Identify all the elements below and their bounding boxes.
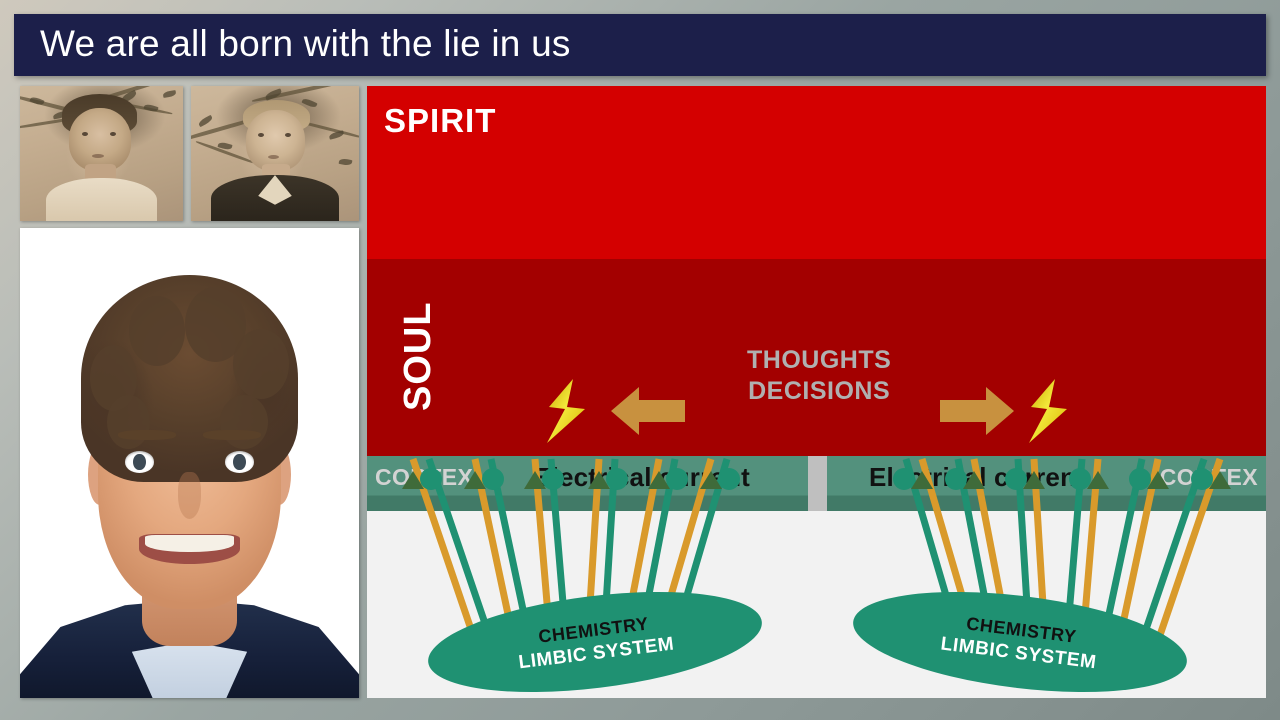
slide-title-bar: We are all born with the lie in us xyxy=(14,14,1266,76)
vintage-portrait-man-photo xyxy=(20,86,183,221)
slide-title: We are all born with the lie in us xyxy=(40,23,571,65)
thoughts-line: THOUGHTS xyxy=(747,345,891,376)
photo-column xyxy=(20,86,360,698)
lightning-bolt-left-icon xyxy=(545,379,587,443)
vintage-portrait-woman-photo xyxy=(191,86,359,221)
soul-arrow-right-icon xyxy=(940,385,1014,437)
soul-band: SOUL THOUGHTS DECISIONS xyxy=(367,259,1266,456)
slide-root: We are all born with the lie in us xyxy=(0,0,1280,720)
decisions-line: DECISIONS xyxy=(747,376,891,407)
cortex-gap-divider xyxy=(808,456,827,511)
spirit-label: SPIRIT xyxy=(384,102,496,140)
thoughts-decisions-label: THOUGHTS DECISIONS xyxy=(747,345,891,406)
spirit-band: SPIRIT xyxy=(367,86,1266,259)
portrait-speaker-photo xyxy=(20,228,359,698)
lightning-bolt-right-icon xyxy=(1027,379,1069,443)
soul-arrow-left-icon xyxy=(611,385,685,437)
limbic-region: CHEMISTRY LIMBIC SYSTEM CHEMISTRY LIMBIC… xyxy=(367,511,1266,698)
spirit-soul-body-diagram: SPIRIT SOUL THOUGHTS DECISIONS xyxy=(367,86,1266,698)
soul-label: SOUL xyxy=(397,301,440,411)
